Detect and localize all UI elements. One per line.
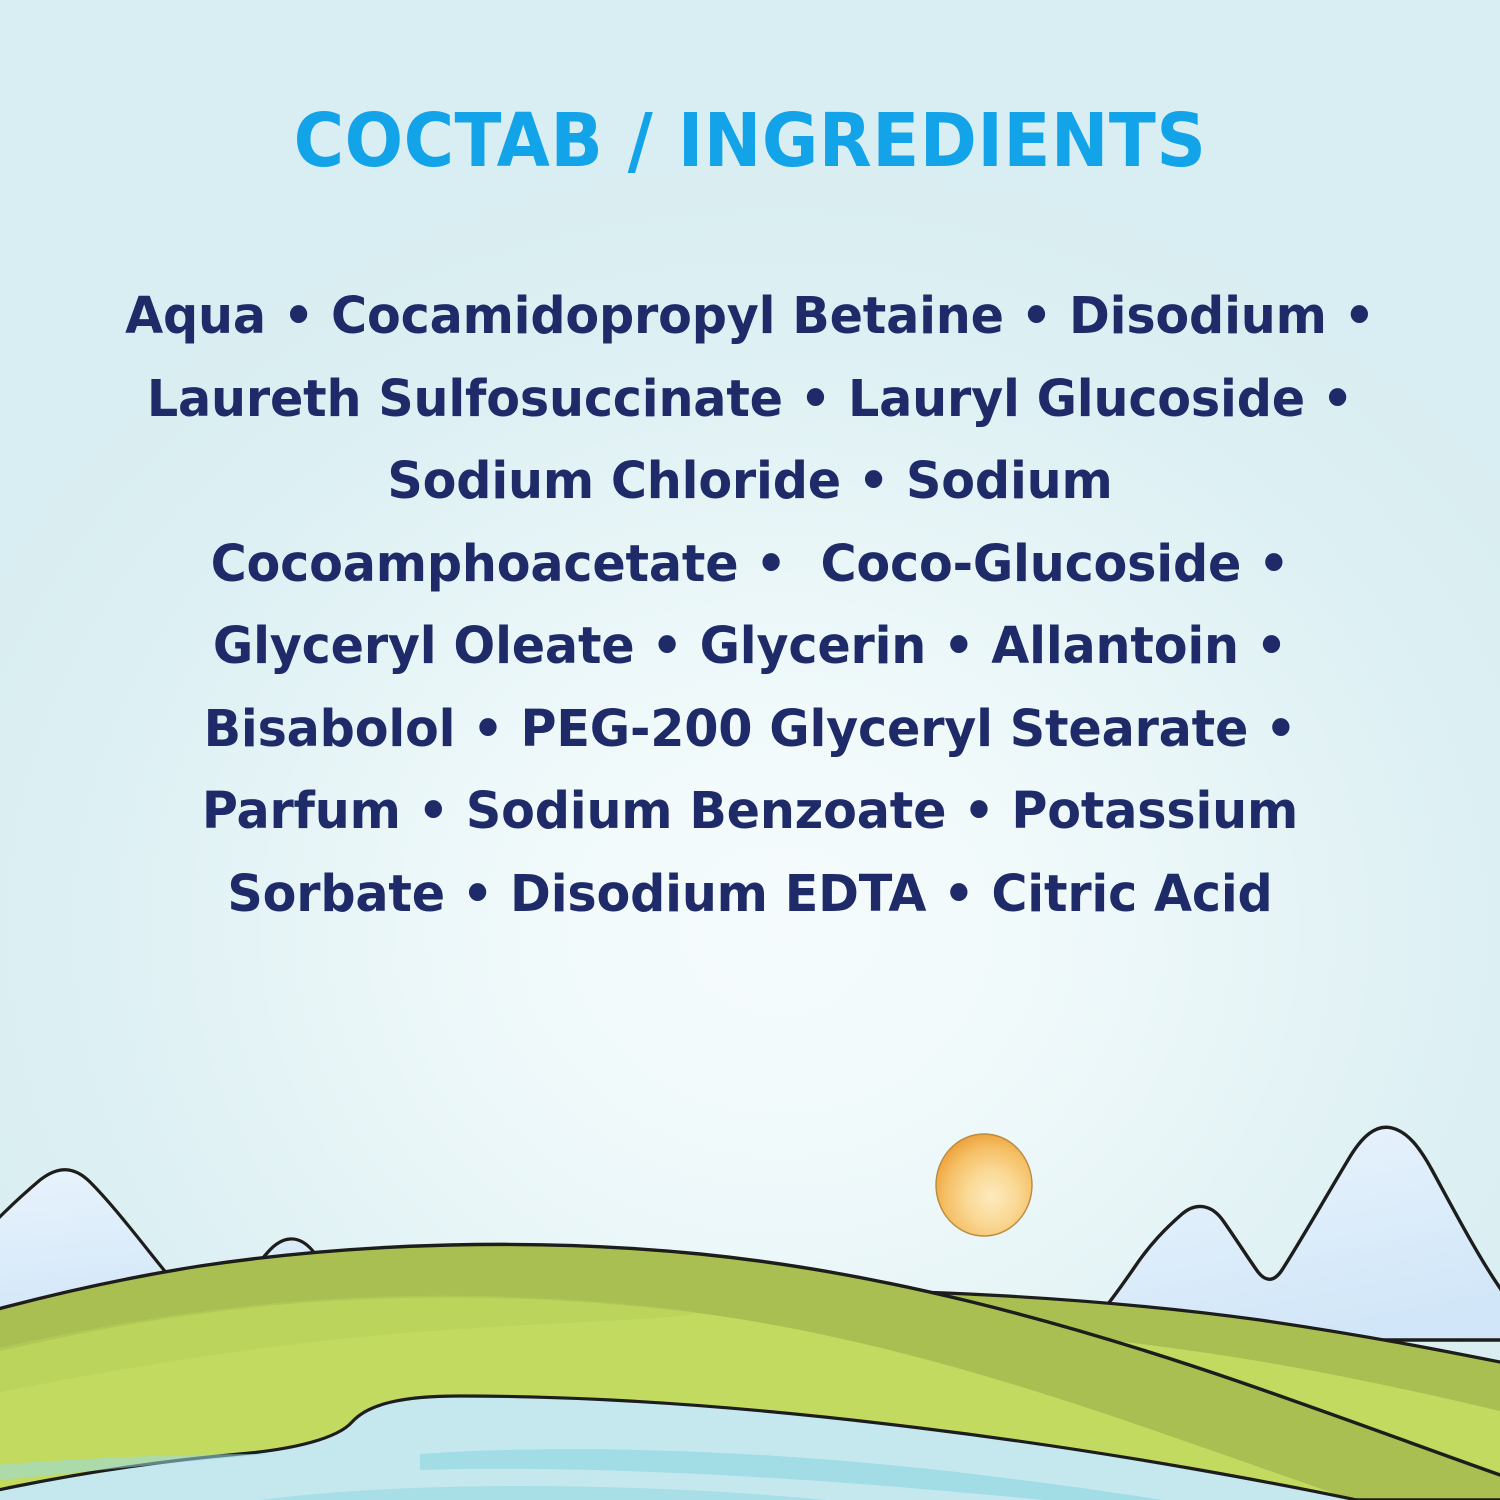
page-title: COCTAB / INGREDIENTS xyxy=(53,104,1448,178)
ingredients-line: Sodium Chloride • Sodium xyxy=(123,441,1378,524)
sun-icon xyxy=(936,1134,1032,1236)
ingredients-line: Sorbate • Disodium EDTA • Citric Acid xyxy=(123,854,1378,937)
ingredients-line: Glyceryl Oleate • Glycerin • Allantoin • xyxy=(123,606,1378,689)
ingredients-line: Aqua • Cocamidopropyl Betaine • Disodium… xyxy=(123,276,1378,359)
landscape-illustration xyxy=(0,1030,1500,1500)
ingredients-list: Aqua • Cocamidopropyl Betaine • Disodium… xyxy=(123,276,1378,936)
ingredients-panel: COCTAB / INGREDIENTS Aqua • Cocamidoprop… xyxy=(0,0,1500,1500)
ingredients-line: Parfum • Sodium Benzoate • Potassium xyxy=(123,771,1378,854)
ingredients-line: Cocoamphoacetate • Coco-Glucoside • xyxy=(123,524,1378,607)
ingredients-line: Bisabolol • PEG-200 Glyceryl Stearate • xyxy=(123,689,1378,772)
ingredients-line: Laureth Sulfosuccinate • Lauryl Glucosid… xyxy=(123,359,1378,442)
